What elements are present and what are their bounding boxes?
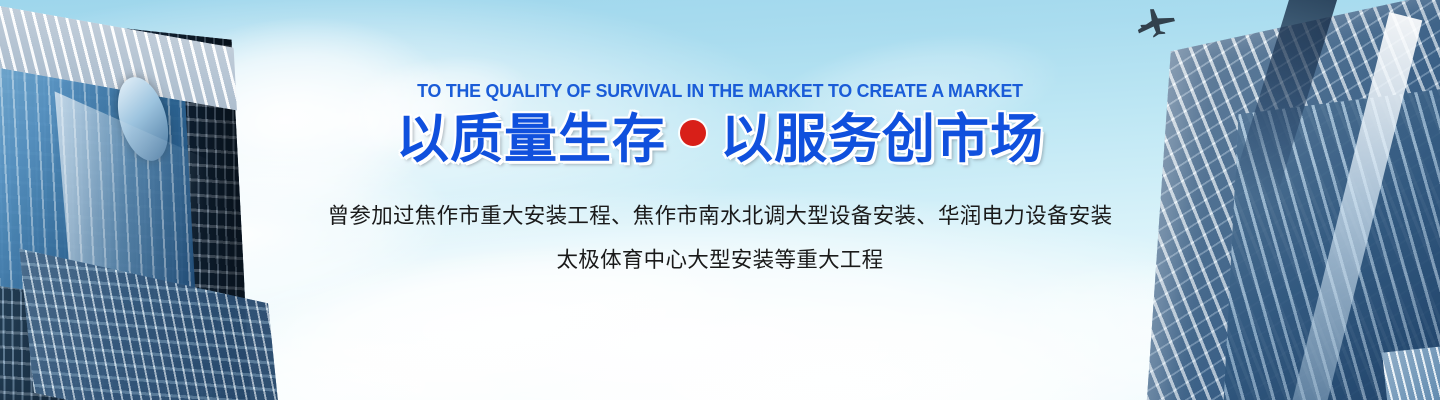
- banner-text-block: TO THE QUALITY OF SURVIVAL IN THE MARKET…: [0, 0, 1440, 282]
- red-dot-separator: [680, 120, 706, 146]
- subtitle-block: 曾参加过焦作市重大安装工程、焦作市南水北调大型设备安装、华润电力设备安装 太极体…: [0, 194, 1440, 282]
- headline: 以质量生存以服务创市场: [0, 111, 1440, 168]
- subtitle-line-2: 太极体育中心大型安装等重大工程: [0, 238, 1440, 282]
- promo-banner: TO THE QUALITY OF SURVIVAL IN THE MARKET…: [0, 0, 1440, 400]
- cloud: [520, 300, 1140, 400]
- tagline-english: TO THE QUALITY OF SURVIVAL IN THE MARKET…: [29, 82, 1411, 101]
- headline-right-phrase: 以服务创市场: [720, 110, 1044, 169]
- headline-left-phrase: 以质量生存: [396, 110, 666, 169]
- building-background-block: [1382, 344, 1440, 400]
- subtitle-line-1: 曾参加过焦作市重大安装工程、焦作市南水北调大型设备安装、华润电力设备安装: [0, 194, 1440, 238]
